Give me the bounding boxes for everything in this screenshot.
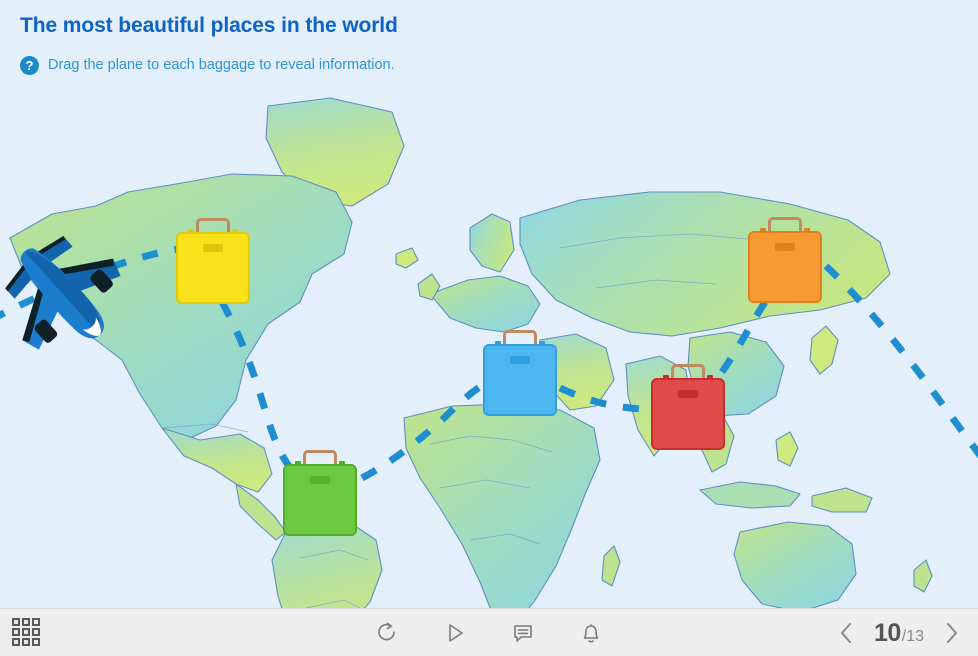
grid-cell bbox=[32, 638, 40, 646]
baggage-body bbox=[176, 232, 250, 304]
hint-row: ? Drag the plane to each baggage to reve… bbox=[20, 54, 395, 76]
baggage-latch-icon bbox=[678, 390, 698, 398]
baggage-body bbox=[748, 231, 822, 303]
baggage-yellow[interactable] bbox=[176, 218, 250, 304]
grid-cell bbox=[12, 638, 20, 646]
baggage-latch-icon bbox=[310, 476, 330, 484]
comment-icon[interactable] bbox=[508, 618, 538, 648]
grid-cell bbox=[12, 618, 20, 626]
baggage-body bbox=[283, 464, 357, 536]
toolbar-tools bbox=[0, 609, 978, 656]
slide-stage: The most beautiful places in the world ?… bbox=[0, 0, 978, 656]
grid-cell bbox=[32, 628, 40, 636]
question-mark-circle-icon: ? bbox=[20, 56, 39, 75]
restart-icon[interactable] bbox=[372, 618, 402, 648]
baggage-orange[interactable] bbox=[748, 217, 822, 303]
grid-cell bbox=[22, 628, 30, 636]
hint-text: Drag the plane to each baggage to reveal… bbox=[48, 57, 395, 73]
slide-header: The most beautiful places in the world ?… bbox=[0, 0, 978, 88]
grid-cell bbox=[22, 638, 30, 646]
pagination: 10 /13 bbox=[834, 609, 964, 656]
page-total: /13 bbox=[902, 628, 924, 646]
baggage-latch-icon bbox=[775, 243, 795, 251]
baggage-body bbox=[483, 344, 557, 416]
grid-cell bbox=[22, 618, 30, 626]
baggage-red[interactable] bbox=[651, 364, 725, 450]
grid-cell bbox=[12, 628, 20, 636]
baggage-green[interactable] bbox=[283, 450, 357, 536]
page-title: The most beautiful places in the world bbox=[20, 14, 398, 38]
grid-menu-icon[interactable] bbox=[12, 618, 44, 648]
page-current: 10 bbox=[874, 619, 901, 648]
play-icon[interactable] bbox=[440, 618, 470, 648]
baggage-body bbox=[651, 378, 725, 450]
baggage-blue[interactable] bbox=[483, 330, 557, 416]
bottom-toolbar: 10 /13 bbox=[0, 608, 978, 656]
page-indicator: 10 /13 bbox=[874, 619, 924, 648]
baggage-latch-icon bbox=[510, 356, 530, 364]
baggage-latch-icon bbox=[203, 244, 223, 252]
chevron-left-icon[interactable] bbox=[834, 618, 858, 648]
grid-cell bbox=[32, 618, 40, 626]
chevron-right-icon[interactable] bbox=[940, 618, 964, 648]
bell-icon[interactable] bbox=[576, 618, 606, 648]
airplane-draggable[interactable] bbox=[0, 228, 126, 356]
airplane-icon bbox=[0, 228, 126, 356]
